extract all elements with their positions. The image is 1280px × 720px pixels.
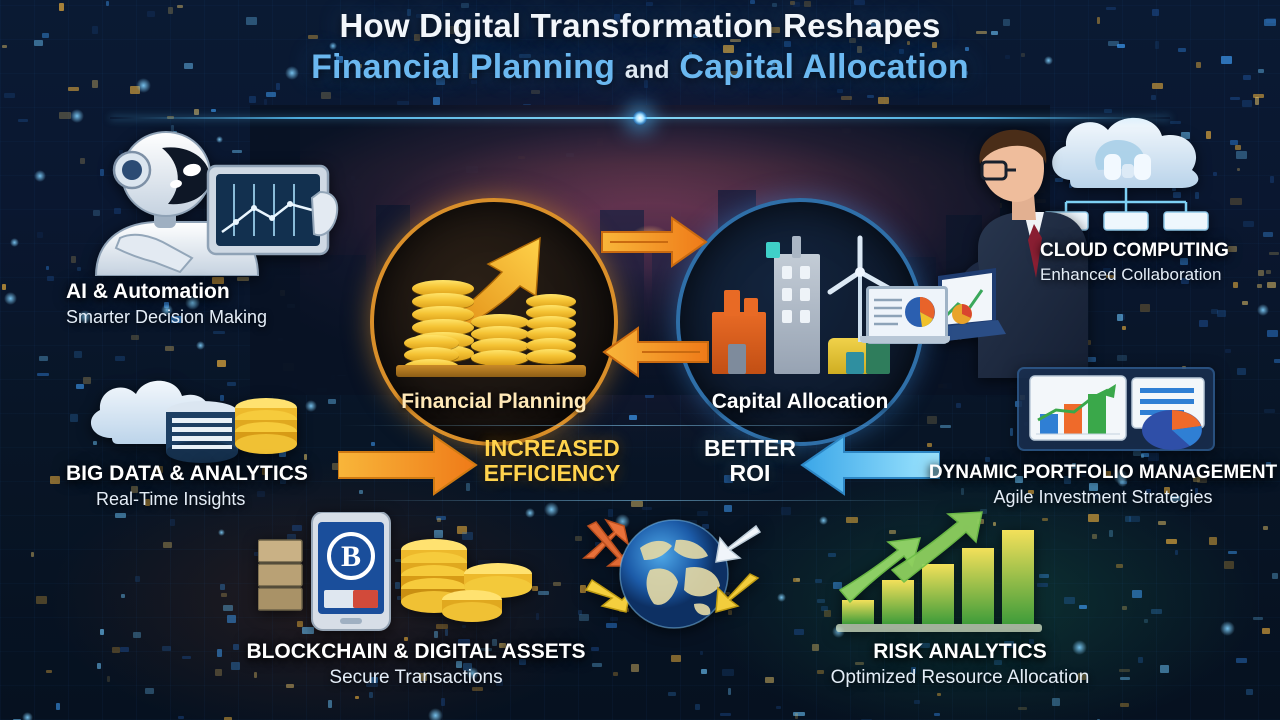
title-block: How Digital Transformation Reshapes Fina… <box>0 8 1280 86</box>
divider-glow-dot <box>633 111 647 125</box>
better-roi-label: BETTER ROI <box>670 436 830 486</box>
cloud-database-coins-icon <box>78 368 304 464</box>
title-conjunction: and <box>625 56 670 84</box>
caption-risk-analytics: RISK ANALYTICS Optimized Resource Alloca… <box>770 640 1150 689</box>
arrow-capital-to-finance <box>600 322 710 392</box>
laptop-pie-chart-icon <box>866 286 946 348</box>
arrow-finance-to-capital <box>600 212 710 282</box>
caption-blockchain-digital-assets: BLOCKCHAIN & DIGITAL ASSETS Secure Trans… <box>206 640 626 689</box>
title-financial-planning: Financial Planning <box>311 48 615 86</box>
financial-planning-label: Financial Planning <box>374 390 614 414</box>
financial-planning-circle: Financial Planning <box>370 198 618 446</box>
dashboard-charts-icon <box>1016 366 1226 458</box>
caption-big-data-analytics: BIG DATA & ANALYTICS Real-Time Insights <box>66 462 308 510</box>
capital-allocation-circle: Capital Allocation <box>676 198 924 446</box>
page-title-line2: Financial Planning and Capital Allocatio… <box>0 49 1280 86</box>
growth-bar-chart-icon <box>836 508 1046 636</box>
caption-cloud-computing: CLOUD COMPUTING Enhanced Collaboration <box>1040 240 1229 285</box>
robot-tablet-icon <box>58 126 348 276</box>
coin-tray <box>396 365 586 377</box>
svg-text:B: B <box>341 540 361 573</box>
bitcoin-phone-coins-icon: B <box>258 512 558 636</box>
title-capital-allocation: Capital Allocation <box>679 48 968 86</box>
caption-dynamic-portfolio-management: DYNAMIC PORTFOLIO MANAGEMENT Agile Inves… <box>928 462 1278 508</box>
global-transactions-globe-icon <box>578 512 764 638</box>
band-bottom-rule <box>340 500 940 501</box>
page-title-line1: How Digital Transformation Reshapes <box>0 8 1280 45</box>
infographic-canvas: How Digital Transformation Reshapes Fina… <box>0 0 1280 720</box>
capital-allocation-label: Capital Allocation <box>680 390 920 414</box>
increased-efficiency-label: INCREASED EFFICIENCY <box>462 436 642 486</box>
efficiency-arrow-icon <box>338 434 478 496</box>
caption-ai-automation: AI & Automation Smarter Decision Making <box>66 280 267 328</box>
band-top-rule <box>340 425 940 426</box>
